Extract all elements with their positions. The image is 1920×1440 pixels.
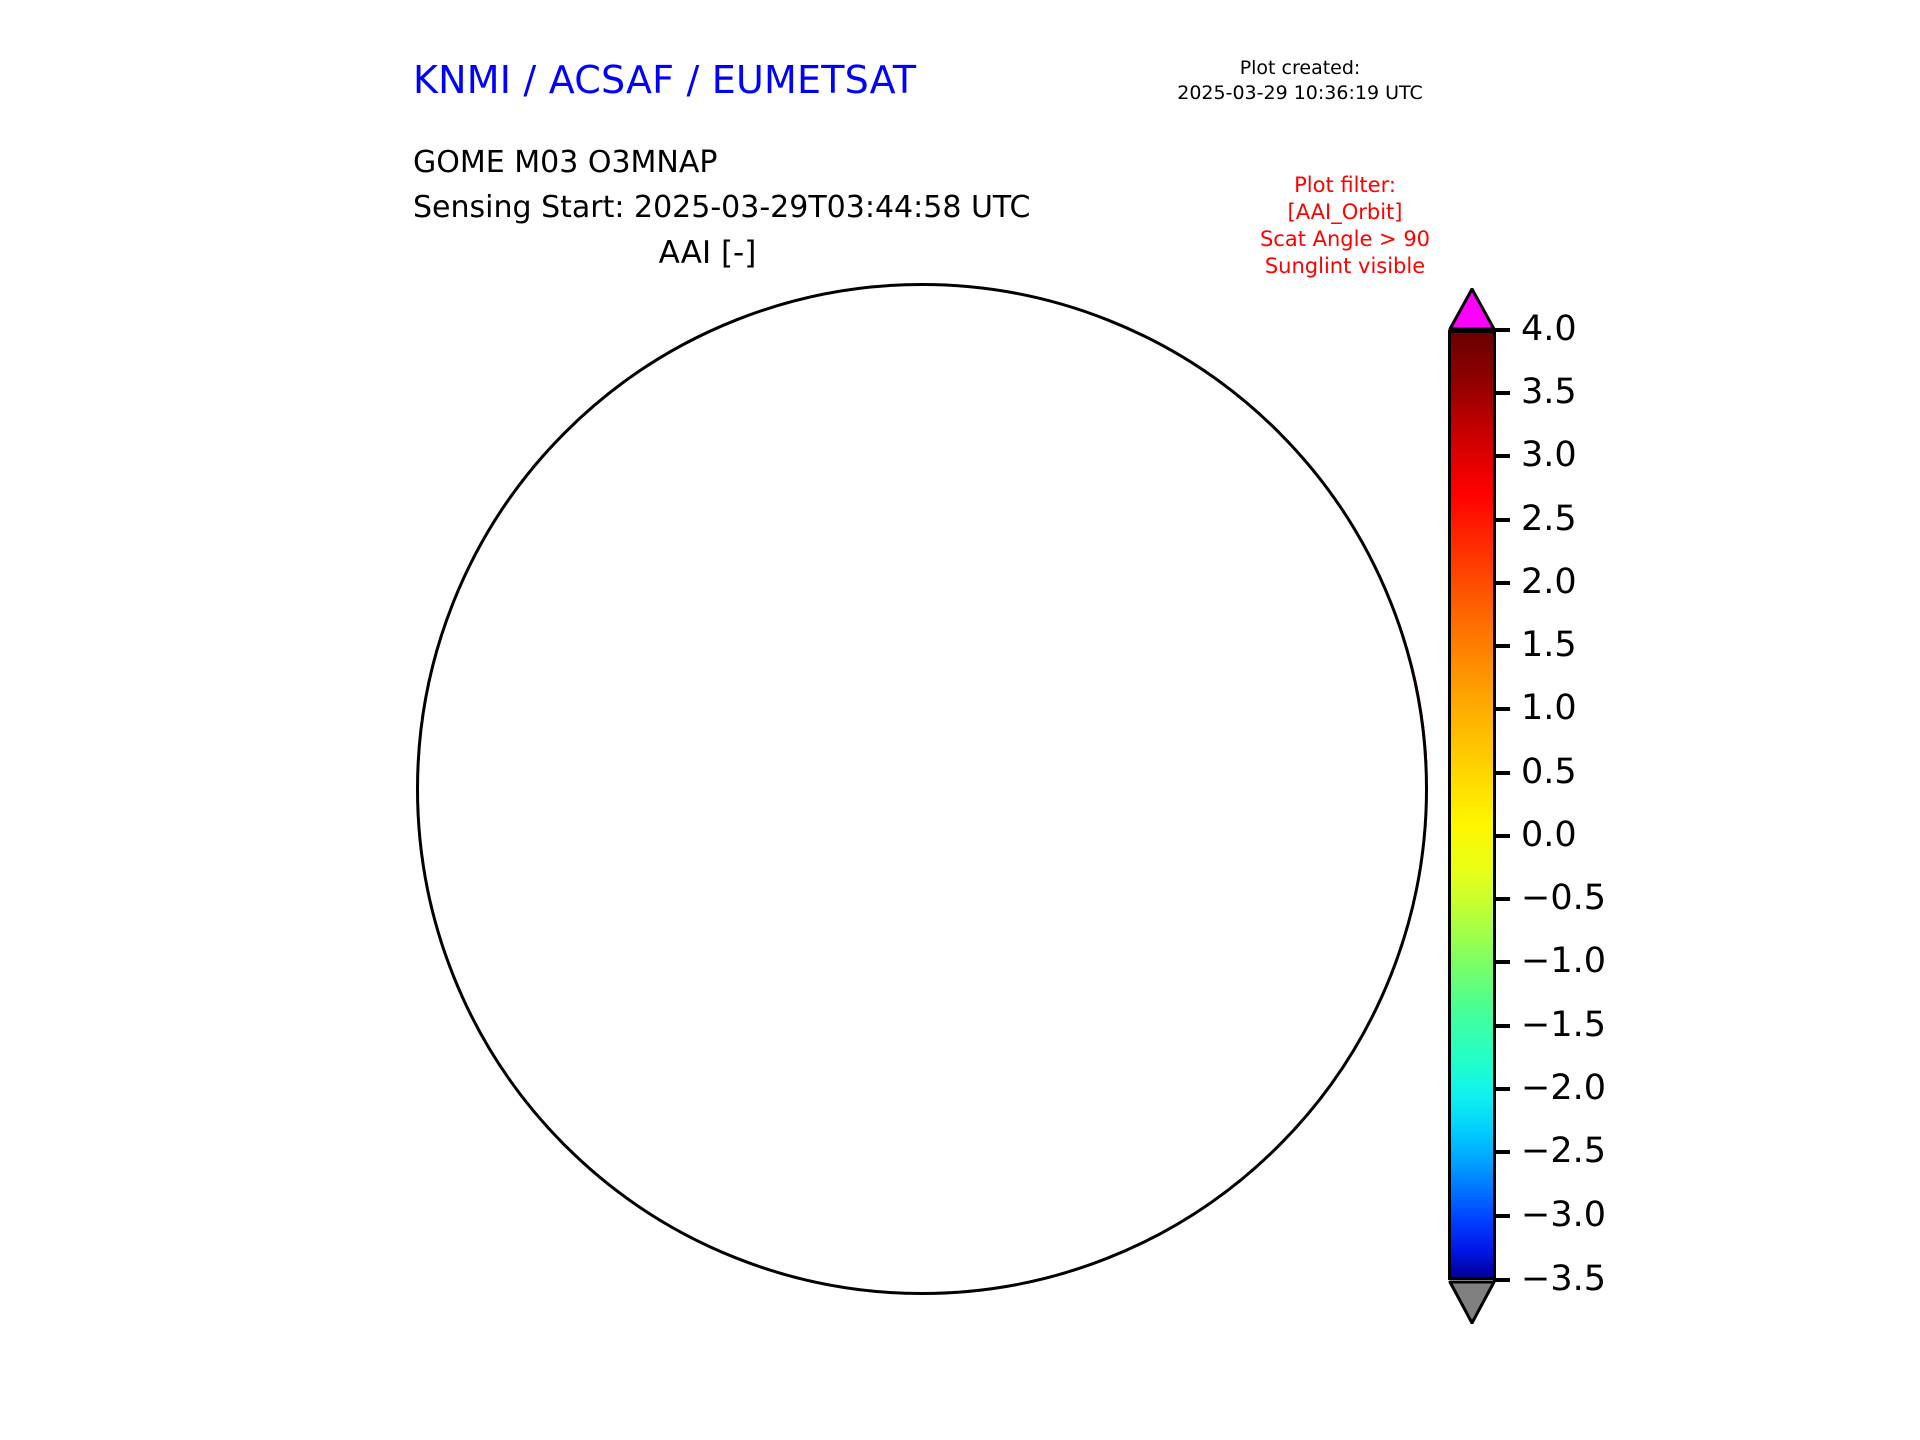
tick-label: −3.0	[1521, 1195, 1606, 1235]
tick-mark	[1493, 328, 1510, 332]
plot-created-block: Plot created: 2025-03-29 10:36:19 UTC	[1160, 56, 1440, 106]
tick-mark	[1493, 581, 1510, 585]
tick-label: 3.0	[1521, 435, 1577, 475]
tick-mark	[1493, 707, 1510, 711]
tick-label: 0.5	[1521, 752, 1577, 792]
plot-filter-block: Plot filter: [AAI_Orbit] Scat Angle > 90…	[1195, 172, 1495, 280]
tick-mark	[1493, 1150, 1510, 1154]
tick-label: 3.5	[1521, 372, 1577, 412]
tick-label: 0.0	[1521, 815, 1577, 855]
tick-label: 1.0	[1521, 688, 1577, 728]
map-globe	[416, 283, 1428, 1295]
dataset-name: GOME M03 O3MNAP	[413, 140, 1030, 185]
tick-mark	[1493, 960, 1510, 964]
dataset-info: GOME M03 O3MNAP Sensing Start: 2025-03-2…	[413, 140, 1030, 230]
tick-label: −2.0	[1521, 1068, 1606, 1108]
tick-mark	[1493, 897, 1510, 901]
sensing-start: Sensing Start: 2025-03-29T03:44:58 UTC	[413, 185, 1030, 230]
organisation-title: KNMI / ACSAF / EUMETSAT	[413, 58, 916, 102]
tick-label: 2.0	[1521, 562, 1577, 602]
tick-label: −1.5	[1521, 1005, 1606, 1045]
tick-mark	[1493, 834, 1510, 838]
tick-label: 4.0	[1521, 309, 1577, 349]
plot-filter-condition: Scat Angle > 90	[1195, 226, 1495, 253]
plot-canvas: KNMI / ACSAF / EUMETSAT Plot created: 20…	[0, 0, 1920, 1440]
tick-label: 2.5	[1521, 499, 1577, 539]
colorbar: 4.0 3.5 3.0 2.5 2.0 1.5 1.0 0.5 0.0 −0.5…	[1448, 288, 1648, 1298]
tick-label: −1.0	[1521, 941, 1606, 981]
tick-mark	[1493, 1087, 1510, 1091]
plot-created-label: Plot created:	[1160, 56, 1440, 81]
colorbar-ticks: 4.0 3.5 3.0 2.5 2.0 1.5 1.0 0.5 0.0 −0.5…	[1448, 288, 1648, 1298]
globe-outline	[416, 283, 1428, 1295]
tick-mark	[1493, 771, 1510, 775]
tick-mark	[1493, 518, 1510, 522]
tick-mark	[1493, 454, 1510, 458]
tick-label: 1.5	[1521, 625, 1577, 665]
tick-mark	[1493, 1214, 1510, 1218]
tick-label: −3.5	[1521, 1259, 1606, 1299]
tick-mark	[1493, 644, 1510, 648]
tick-label: −2.5	[1521, 1131, 1606, 1171]
plot-created-timestamp: 2025-03-29 10:36:19 UTC	[1160, 81, 1440, 106]
tick-mark	[1493, 1278, 1510, 1282]
plot-filter-product: [AAI_Orbit]	[1195, 199, 1495, 226]
tick-mark	[1493, 391, 1510, 395]
tick-label: −0.5	[1521, 878, 1606, 918]
plot-filter-label: Plot filter:	[1195, 172, 1495, 199]
tick-mark	[1493, 1024, 1510, 1028]
plot-filter-note: Sunglint visible	[1195, 253, 1495, 280]
